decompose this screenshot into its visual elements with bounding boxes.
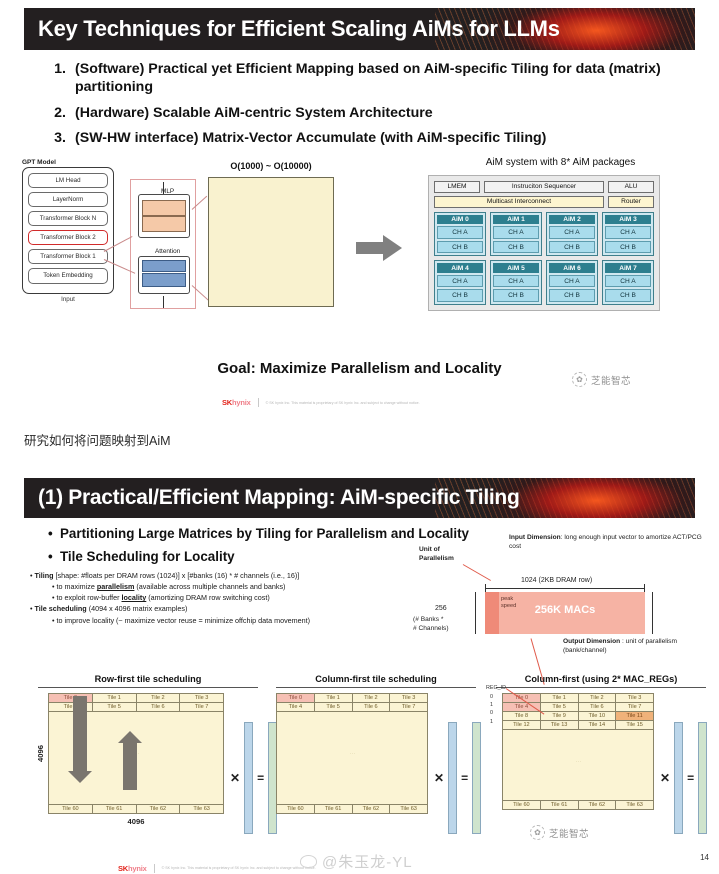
aim-package-4: AiM 4 CH A CH B	[434, 260, 486, 305]
input-vector	[674, 722, 683, 834]
tile-cell: Tile 7	[616, 703, 653, 711]
tile-cell: Tile 3	[616, 694, 653, 702]
matrix-body: ⋮	[49, 712, 223, 804]
tile-cell: Tile 0	[277, 694, 315, 702]
tile-cell: Tile 13	[541, 721, 579, 729]
tile-cell: Tile 6	[353, 703, 391, 711]
weibo-watermark: @朱玉龙-YL	[300, 851, 413, 872]
bullet-text: (SW-HW interface) Matrix-Vector Accumula…	[75, 129, 685, 147]
gpt-input-label: Input	[22, 296, 114, 303]
detail-post: (amortizing DRAM row switching cost)	[146, 593, 269, 602]
gpt-block-transformer-1: Transformer Block 1	[28, 249, 108, 264]
reg-id-value: 1	[490, 701, 493, 709]
aim-package-0: AiM 0 CH A CH B	[434, 212, 486, 257]
matrix-wrap: REG_ID 0 1 0 1 Tile 0 Tile 1 Tile 2 Tile…	[502, 693, 654, 810]
aim-package-label: AiM 5	[493, 263, 539, 272]
chinese-note: 研究如何将问题映射到AiM	[24, 430, 171, 449]
tile-cell: Tile 12	[503, 721, 541, 729]
slide2-title-bar: (1) Practical/Efficient Mapping: AiM-spe…	[24, 478, 695, 518]
tile-cell: Tile 6	[137, 703, 181, 711]
attention-layer-1	[142, 260, 186, 272]
tile-cell: Tile 63	[616, 801, 653, 809]
aim-package-3: AiM 3 CH A CH B	[602, 212, 654, 257]
slide2-title: (1) Practical/Efficient Mapping: AiM-spe…	[24, 486, 519, 510]
aim-package-label: AiM 2	[549, 215, 595, 224]
detail-rest: [shape: #floats per DRAM rows (1024)] x …	[54, 571, 300, 580]
output-dimension-annotation: Output Dimension : unit of parallelism (…	[563, 638, 709, 656]
detail-pre: to maximize	[57, 582, 97, 591]
bullet-index: 1.	[46, 60, 66, 97]
bullet-text: (Software) Practical yet Efficient Mappi…	[75, 60, 685, 97]
tile-cell: Tile 1	[541, 694, 579, 702]
output-vector	[698, 722, 707, 834]
gpt-model-diagram: GPT Model LM Head LayerNorm Transformer …	[22, 159, 114, 303]
channel-a: CH A	[605, 226, 651, 239]
detail-emphasis: parallelism	[97, 582, 135, 591]
equals-symbol: =	[257, 771, 264, 785]
tile-cell: Tile 63	[390, 805, 427, 813]
multiply-symbol: ✕	[434, 771, 444, 785]
slide-key-techniques: Key Techniques for Efficient Scaling AiM…	[0, 8, 719, 408]
table-row: Tile 60 Tile 61 Tile 62 Tile 63	[49, 804, 223, 813]
row-dimension-line	[485, 588, 645, 589]
wechat-watermark-text: 芝能智芯	[591, 373, 631, 387]
instruction-sequencer-chip: Instruciton Sequencer	[484, 181, 604, 193]
vector-operands: ✕ =	[434, 722, 481, 834]
tile-cell: Tile 2	[353, 694, 391, 702]
banks-count-label: 256	[435, 604, 447, 613]
gpt-model-box: LM Head LayerNorm Transformer Block N Tr…	[22, 167, 114, 294]
title-rule	[38, 687, 258, 688]
tile-matrix: Tile 0 Tile 1 Tile 2 Tile 3 Tile 4 Tile …	[276, 693, 428, 814]
col-dimension-line-right	[652, 592, 653, 634]
matrix-wrap: 4096 Tile 0 Tile 1 Tile 2 Tile 3 Tile 4 …	[48, 693, 224, 826]
table-row: Tile 12 Tile 13 Tile 14 Tile 15	[503, 721, 653, 730]
mlp-layer-1	[142, 200, 186, 216]
channel-b: CH B	[493, 289, 539, 302]
tile-cell: Tile 9	[541, 712, 579, 720]
list-item: 2. (Hardware) Scalable AiM-centric Syste…	[46, 104, 685, 122]
bullet-text: Tile Scheduling for Locality	[60, 549, 235, 564]
output-vector	[472, 722, 481, 834]
channel-a: CH A	[549, 226, 595, 239]
tile-cell: Tile 2	[579, 694, 617, 702]
ellipsis-dots: ⋮	[575, 759, 581, 766]
gpt-block-token-embedding: Token Embedding	[28, 268, 108, 283]
channel-b: CH B	[605, 241, 651, 254]
aim-package-7: AiM 7 CH A CH B	[602, 260, 654, 305]
list-item: 3. (SW-HW interface) Matrix-Vector Accum…	[46, 129, 685, 147]
footer-divider	[154, 864, 155, 873]
mac-annotation-cluster: Unit of Parallelism Input Dimension: lon…	[413, 546, 713, 676]
channel-b: CH B	[493, 241, 539, 254]
bullet-text: (Hardware) Scalable AiM-centric System A…	[75, 104, 685, 122]
input-dimension-head: Input Dimension	[509, 534, 561, 541]
slide1-title-bar: Key Techniques for Efficient Scaling AiM…	[24, 8, 695, 50]
title-rule	[276, 687, 476, 688]
tile-cell: Tile 10	[579, 712, 617, 720]
table-row: Tile 8 Tile 9 Tile 10 Tile 11	[503, 712, 653, 721]
sk-hynix-logo: SKhynix	[118, 864, 147, 873]
channel-b: CH B	[437, 289, 483, 302]
chat-icon: ✿	[572, 372, 587, 387]
weibo-logo-icon	[300, 855, 317, 868]
sk-hynix-logo: SKhynix	[222, 398, 251, 407]
multicast-interconnect-chip: Multicast Interconnect	[434, 196, 604, 208]
diagram-title: Column-first tile scheduling	[268, 674, 484, 684]
reg-id-value: 1	[490, 718, 493, 726]
tile-cell: Tile 7	[390, 703, 427, 711]
screenshot-page: Key Techniques for Efficient Scaling AiM…	[0, 0, 719, 874]
detail-pre: to improve locality (~ maximize vector r…	[57, 616, 311, 625]
channel-b: CH B	[437, 241, 483, 254]
reg-id-value: 0	[490, 693, 493, 701]
tile-cell: Tile 3	[180, 694, 223, 702]
attention-layer-2	[142, 273, 186, 287]
aim-system-caption: AiM system with 8* AiM packages	[418, 157, 703, 168]
bullet-text: Partitioning Large Matrices by Tiling fo…	[60, 526, 469, 541]
slide1-figure-row: GPT Model LM Head LayerNorm Transformer …	[0, 155, 719, 355]
bullet-index: 2.	[46, 104, 66, 122]
wechat-watermark-text: 芝能智芯	[549, 826, 589, 840]
mlp-layer-2	[142, 216, 186, 232]
table-row: Tile 60 Tile 61 Tile 62 Tile 63	[277, 804, 427, 813]
equals-symbol: =	[687, 771, 694, 785]
slide1-title: Key Techniques for Efficient Scaling AiM…	[24, 16, 560, 42]
aim-package-1: AiM 1 CH A CH B	[490, 212, 542, 257]
tile-cell: Tile 7	[180, 703, 223, 711]
tile-cell: Tile 61	[315, 805, 353, 813]
tile-cell: Tile 5	[315, 703, 353, 711]
aim-package-label: AiM 7	[605, 263, 651, 272]
dram-row-label: 1024 (2KB DRAM row)	[521, 576, 592, 585]
tile-cell: Tile 14	[579, 721, 617, 729]
diagram-column-first-2reg: Column-first (using 2* MAC_REGs) REG_ID …	[488, 674, 714, 810]
gpt-block-layernorm: LayerNorm	[28, 192, 108, 207]
detail-post: (available across multiple channels and …	[134, 582, 285, 591]
table-row: Tile 0 Tile 1 Tile 2 Tile 3	[277, 694, 427, 703]
gpt-block-transformer-2: Transformer Block 2	[28, 230, 108, 245]
tile-cell: Tile 6	[579, 703, 617, 711]
footer-divider	[258, 398, 259, 407]
aim-package-label: AiM 6	[549, 263, 595, 272]
bullet-dot: •	[48, 549, 60, 564]
aim-package-label: AiM 0	[437, 215, 483, 224]
aim-package-label: AiM 3	[605, 215, 651, 224]
diagram-column-first: Column-first tile scheduling Tile 0 Tile…	[268, 674, 484, 814]
leader-line	[463, 564, 491, 581]
gpt-block-lm-head: LM Head	[28, 173, 108, 188]
tile-cell: Tile 60	[49, 805, 93, 813]
aim-system-diagram: LMEM Instruciton Sequencer ALU Multicast…	[428, 175, 660, 311]
multiply-symbol: ✕	[660, 771, 670, 785]
wechat-watermark: ✿ 芝能智芯	[572, 372, 631, 387]
tile-cell: Tile 60	[277, 805, 315, 813]
axis-label-bottom: 4096	[48, 817, 224, 826]
channel-a: CH A	[437, 226, 483, 239]
banks-channels-label: (# Banks * # Channels)	[413, 616, 449, 634]
tile-cell: Tile 8	[503, 712, 541, 720]
tile-cell: Tile 11	[616, 712, 653, 720]
detail-head: Tile scheduling	[35, 604, 87, 613]
gpt-block-transformer-n: Transformer Block N	[28, 211, 108, 226]
channel-b: CH B	[549, 289, 595, 302]
aim-package-label: AiM 1	[493, 215, 539, 224]
vector-operands: ✕ =	[660, 722, 707, 834]
tile-cell: Tile 5	[93, 703, 137, 711]
down-arrow-icon	[73, 696, 87, 772]
diagram-row-first: Row-first tile scheduling 4096 Tile 0 Ti…	[30, 674, 266, 826]
diagram-title: Column-first (using 2* MAC_REGs)	[488, 674, 714, 684]
channel-a: CH A	[605, 275, 651, 288]
mlp-label: MLP	[161, 188, 174, 195]
alu-chip: ALU	[608, 181, 654, 193]
aim-control-row-1: LMEM Instruciton Sequencer ALU	[434, 181, 654, 193]
tile-matrix: Tile 0 Tile 1 Tile 2 Tile 3 Tile 4 Tile …	[502, 693, 654, 810]
detail-emphasis: locality	[122, 593, 147, 602]
tile-cell: Tile 4	[277, 703, 315, 711]
unit-of-parallelism-label: Unit of Parallelism	[419, 546, 454, 564]
tile-matrix: Tile 0 Tile 1 Tile 2 Tile 3 Tile 4 Tile …	[48, 693, 224, 814]
tile-cell: Tile 62	[137, 805, 181, 813]
matrix-body: ⋮	[277, 712, 427, 804]
list-item: 1. (Software) Practical yet Efficient Ma…	[46, 60, 685, 97]
aim-package-5: AiM 5 CH A CH B	[490, 260, 542, 305]
detail-line	[163, 296, 164, 308]
right-arrow-icon	[356, 235, 402, 261]
tile-cell: Tile 2	[137, 694, 181, 702]
ellipsis-dots: ⋮	[349, 751, 355, 758]
channel-b: CH B	[549, 241, 595, 254]
table-row: Tile 60 Tile 61 Tile 62 Tile 63	[503, 800, 653, 809]
tile-cell: Tile 1	[93, 694, 137, 702]
title-rule	[496, 687, 706, 688]
tile-cell: Tile 61	[93, 805, 137, 813]
wechat-watermark: ✿ 芝能智芯	[530, 825, 589, 840]
tile-cell: Tile 62	[353, 805, 391, 813]
detail-pre: to exploit row-buffer	[57, 593, 122, 602]
output-dimension-head: Output Dimension	[563, 638, 620, 645]
slide-practical-mapping: (1) Practical/Efficient Mapping: AiM-spe…	[0, 478, 719, 868]
row-dim-tick	[644, 584, 645, 592]
col-dimension-line	[475, 592, 476, 634]
footer-fineprint: © SK hynix Inc. This material is proprie…	[162, 866, 316, 870]
channel-b: CH B	[605, 289, 651, 302]
diagram-title: Row-first tile scheduling	[30, 674, 266, 684]
channel-a: CH A	[437, 275, 483, 288]
large-matrix-block	[208, 177, 334, 307]
detail-head: Tiling	[35, 571, 54, 580]
multiply-symbol: ✕	[230, 771, 240, 785]
page-number: 14	[700, 853, 709, 862]
tile-cell: Tile 62	[579, 801, 617, 809]
aim-package-grid: AiM 0 CH A CH B AiM 1 CH A CH B AiM 2 CH…	[434, 212, 654, 305]
table-row: Tile 4 Tile 5 Tile 6 Tile 7	[277, 703, 427, 712]
tile-cell: Tile 15	[616, 721, 653, 729]
gpt-model-caption: GPT Model	[22, 159, 114, 166]
slide1-footer: SKhynix © SK hynix Inc. This material is…	[222, 398, 420, 407]
macs-label: 256K MACs	[485, 604, 645, 616]
tile-cell: Tile 60	[503, 801, 541, 809]
footer-fineprint: © SK hynix Inc. This material is proprie…	[266, 401, 420, 405]
aim-control-row-2: Multicast Interconnect Router	[434, 196, 654, 208]
reg-id-value: 0	[490, 709, 493, 717]
matrix-body: ⋮	[503, 730, 653, 800]
input-vector	[244, 722, 253, 834]
channel-a: CH A	[493, 226, 539, 239]
mac-array-block: peak speed 256K MACs	[485, 592, 645, 634]
chat-icon: ✿	[530, 825, 545, 840]
input-dimension-annotation: Input Dimension: long enough input vecto…	[509, 534, 709, 552]
tile-cell: Tile 61	[541, 801, 579, 809]
tile-cell: Tile 5	[541, 703, 579, 711]
detail-rest: (4094 x 4096 matrix examples)	[87, 604, 188, 613]
matrix-dimension-caption: O(1000) ~ O(10000)	[208, 161, 334, 171]
bullet-dot: •	[48, 526, 60, 541]
channel-a: CH A	[493, 275, 539, 288]
tile-cell: Tile 3	[390, 694, 427, 702]
aim-package-2: AiM 2 CH A CH B	[546, 212, 598, 257]
channel-a: CH A	[549, 275, 595, 288]
transformer-block-detail: MLP Attention	[130, 179, 196, 309]
router-chip: Router	[608, 196, 654, 208]
reg-id-label: REG_ID	[486, 685, 506, 691]
attention-label: Attention	[155, 248, 180, 255]
table-row: Tile 4 Tile 5 Tile 6 Tile 7	[503, 703, 653, 712]
tile-cell: Tile 63	[180, 805, 223, 813]
bullet-index: 3.	[46, 129, 66, 147]
slide1-bullet-list: 1. (Software) Practical yet Efficient Ma…	[46, 60, 685, 148]
aim-package-label: AiM 4	[437, 263, 483, 272]
lmem-chip: LMEM	[434, 181, 480, 193]
axis-label-left: 4096	[36, 745, 45, 762]
input-vector	[448, 722, 457, 834]
reg-id-column: 0 1 0 1	[490, 693, 493, 726]
aim-package-6: AiM 6 CH A CH B	[546, 260, 598, 305]
up-arrow-icon	[123, 742, 137, 790]
tile-scheduling-diagrams: Row-first tile scheduling 4096 Tile 0 Ti…	[0, 674, 719, 860]
equals-symbol: =	[461, 771, 468, 785]
tile-cell: Tile 1	[315, 694, 353, 702]
row-dim-tick	[485, 584, 486, 592]
weibo-handle: @朱玉龙-YL	[322, 851, 413, 872]
matrix-wrap: Tile 0 Tile 1 Tile 2 Tile 3 Tile 4 Tile …	[276, 693, 428, 814]
